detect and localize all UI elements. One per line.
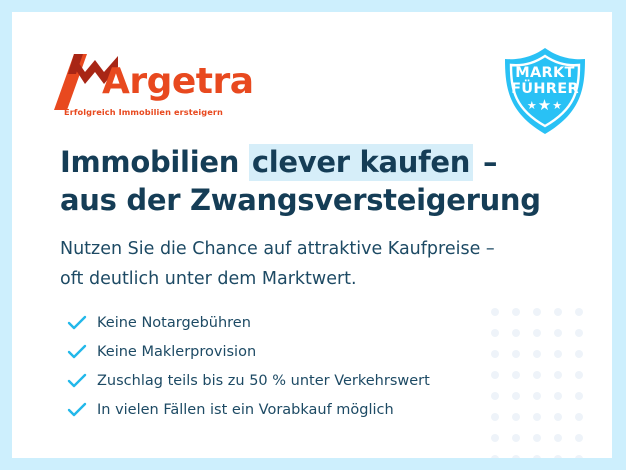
- dot: [554, 350, 562, 358]
- page-title: Immobilien clever kaufen – aus der Zwang…: [60, 143, 580, 219]
- list-item: Keine Notargebühren: [67, 308, 547, 337]
- dot: [554, 455, 562, 459]
- dot: [491, 434, 499, 442]
- markt-fuehrer-badge: MARKT FÜHRER ★★★: [499, 45, 591, 137]
- dot: [575, 329, 583, 337]
- list-item: Zuschlag teils bis zu 50 % unter Verkehr…: [67, 366, 547, 395]
- dot: [575, 371, 583, 379]
- argetra-logo: Argetra Erfolgreich Immobilien ersteiger…: [54, 52, 264, 127]
- dot: [533, 434, 541, 442]
- check-icon: [67, 344, 93, 360]
- dot: [554, 308, 562, 316]
- dot: [554, 329, 562, 337]
- list-item: Keine Maklerprovision: [67, 337, 547, 366]
- dot: [575, 434, 583, 442]
- dot: [575, 350, 583, 358]
- dot: [575, 413, 583, 421]
- dot: [554, 413, 562, 421]
- headline-text-after: –: [473, 145, 497, 179]
- dot: [575, 308, 583, 316]
- dot: [554, 392, 562, 400]
- list-item-label: Keine Maklerprovision: [93, 342, 256, 362]
- shield-badge-icon: [499, 45, 591, 137]
- check-icon: [67, 315, 93, 331]
- check-icon: [67, 373, 93, 389]
- list-item-label: Zuschlag teils bis zu 50 % unter Verkehr…: [93, 371, 430, 391]
- dot: [491, 455, 499, 459]
- subheading-line-1: Nutzen Sie die Chance auf attraktive Kau…: [60, 234, 590, 264]
- subheading: Nutzen Sie die Chance auf attraktive Kau…: [60, 234, 590, 294]
- dot: [554, 371, 562, 379]
- dot: [512, 455, 520, 459]
- list-item: In vielen Fällen ist ein Vorabkauf mögli…: [67, 395, 547, 424]
- subheading-line-2: oft deutlich unter dem Marktwert.: [60, 264, 590, 294]
- headline-line-1: Immobilien clever kaufen –: [60, 143, 580, 181]
- promo-banner: Argetra Erfolgreich Immobilien ersteiger…: [0, 0, 626, 470]
- dot: [554, 434, 562, 442]
- dot: [512, 434, 520, 442]
- benefits-list: Keine Notargebühren Keine Maklerprovisio…: [67, 308, 547, 424]
- headline-highlight: clever kaufen: [249, 144, 473, 181]
- logo-tagline: Erfolgreich Immobilien ersteigern: [64, 107, 223, 117]
- list-item-label: Keine Notargebühren: [93, 313, 251, 333]
- banner-card: Argetra Erfolgreich Immobilien ersteiger…: [12, 12, 612, 458]
- logo-wordmark: Argetra: [102, 64, 254, 100]
- check-icon: [67, 402, 93, 418]
- list-item-label: In vielen Fällen ist ein Vorabkauf mögli…: [93, 400, 394, 420]
- headline-text-before: Immobilien: [60, 145, 249, 179]
- headline-line-2: aus der Zwangsversteigerung: [60, 181, 580, 219]
- dot: [575, 455, 583, 459]
- dot: [533, 455, 541, 459]
- dot: [575, 392, 583, 400]
